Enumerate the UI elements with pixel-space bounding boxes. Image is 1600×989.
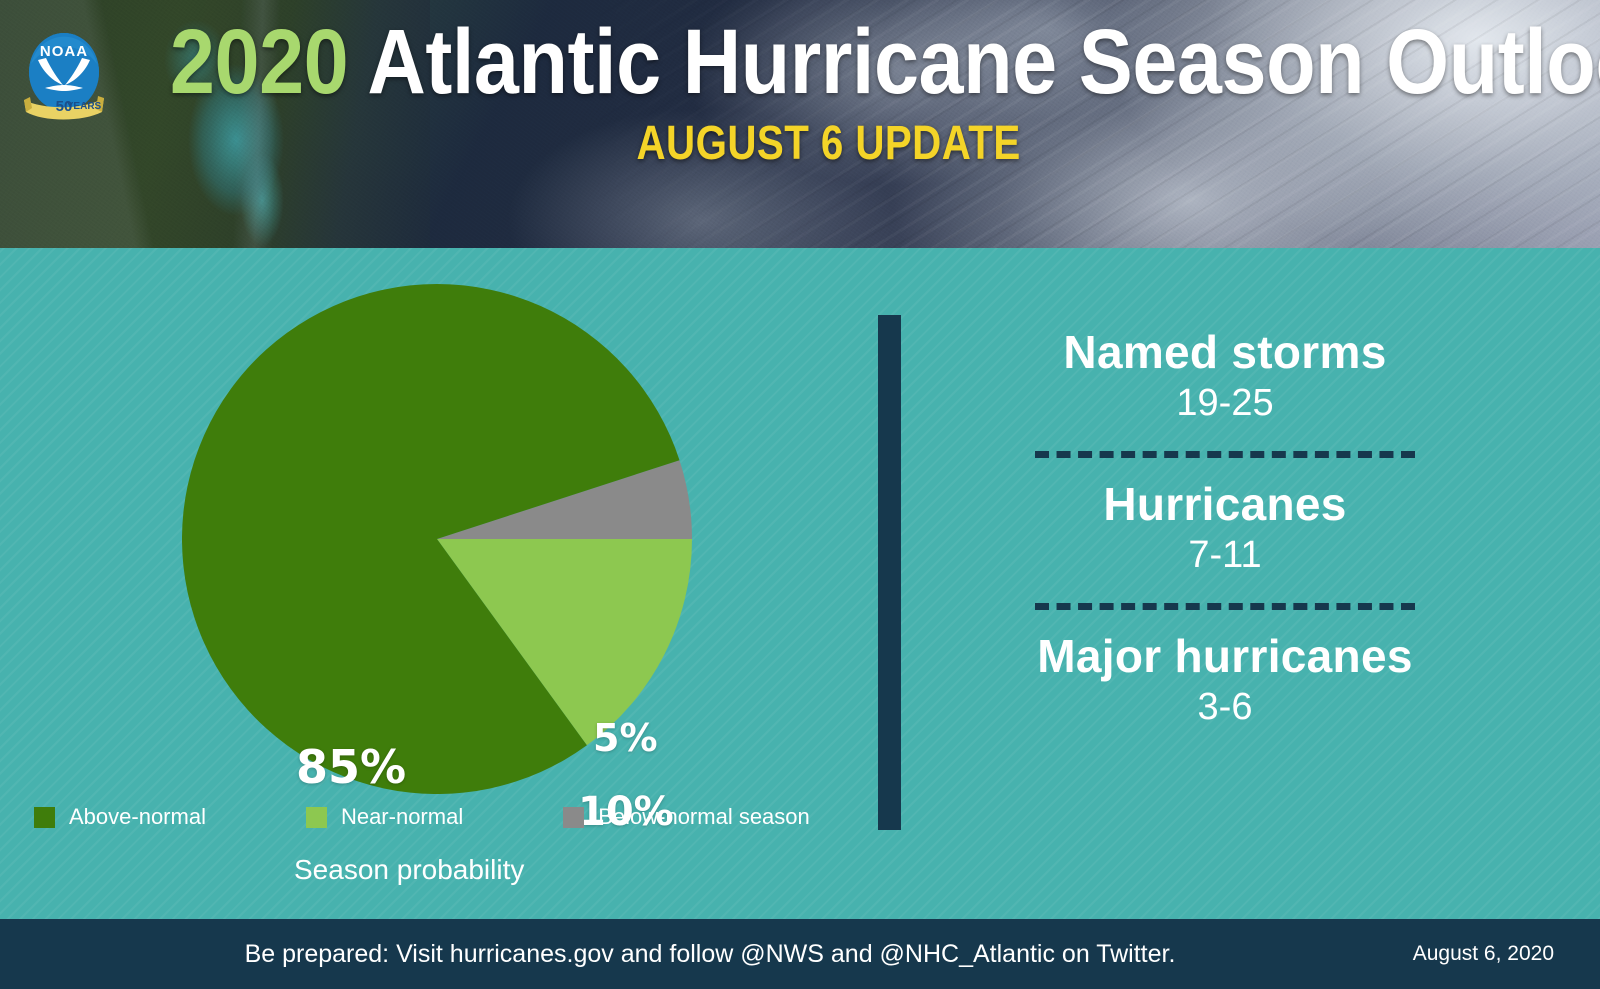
header-title-group: 2020 Atlantic Hurricane Season Outlook A… [0,16,1600,171]
legend-swatch-near-normal [306,807,327,828]
pie-label-below-normal: 5% [593,716,658,760]
legend-swatch-above-normal [34,807,55,828]
title-rest: Atlantic Hurricane Season Outlook [348,11,1600,113]
legend-item-above-normal: Above-normal [34,804,206,830]
stat-value-major-hurricanes: 3-6 [940,684,1510,732]
legend-item-near-normal: Near-normal [306,804,463,830]
stat-value-named-storms: 19-25 [940,380,1510,428]
infographic-root: NOAA 50 YEARS 2020 Atlantic Hurricane Se… [0,0,1600,989]
footer-bar: Be prepared: Visit hurricanes.gov and fo… [0,919,1600,989]
footer-date: August 6, 2020 [1413,942,1554,966]
chart-caption: Season probability [294,854,524,886]
dotted-divider-1 [1035,451,1415,458]
dotted-divider-2 [1035,603,1415,610]
page-subtitle: AUGUST 6 UPDATE [128,116,1472,171]
stat-block-hurricanes: Hurricanes 7-11 [940,480,1510,579]
chart-legend: Above-normal Near-normal Below-normal se… [34,804,854,830]
legend-label-near-normal: Near-normal [341,804,463,830]
legend-swatch-below-normal [563,807,584,828]
stat-title-named-storms: Named storms [940,328,1510,378]
legend-label-below-normal: Below-normal season [598,804,810,830]
forecast-stats-panel: Named storms 19-25 Hurricanes 7-11 Major… [940,328,1510,732]
stat-title-major-hurricanes: Major hurricanes [940,632,1510,682]
stat-title-hurricanes: Hurricanes [940,480,1510,530]
stat-block-named-storms: Named storms 19-25 [940,328,1510,427]
stat-block-major-hurricanes: Major hurricanes 3-6 [940,632,1510,731]
footer-message: Be prepared: Visit hurricanes.gov and fo… [0,940,1600,969]
legend-item-below-normal: Below-normal season [563,804,810,830]
pie-label-above-normal: 85% [296,740,406,794]
header-banner: NOAA 50 YEARS 2020 Atlantic Hurricane Se… [0,0,1600,248]
title-year: 2020 [170,11,348,113]
legend-label-above-normal: Above-normal [69,804,206,830]
vertical-divider [878,315,901,830]
page-title: 2020 Atlantic Hurricane Season Outlook [96,16,1504,110]
main-content: 85% 10% 5% Above-normal Near-normal Belo… [0,248,1600,919]
stat-value-hurricanes: 7-11 [940,532,1510,580]
